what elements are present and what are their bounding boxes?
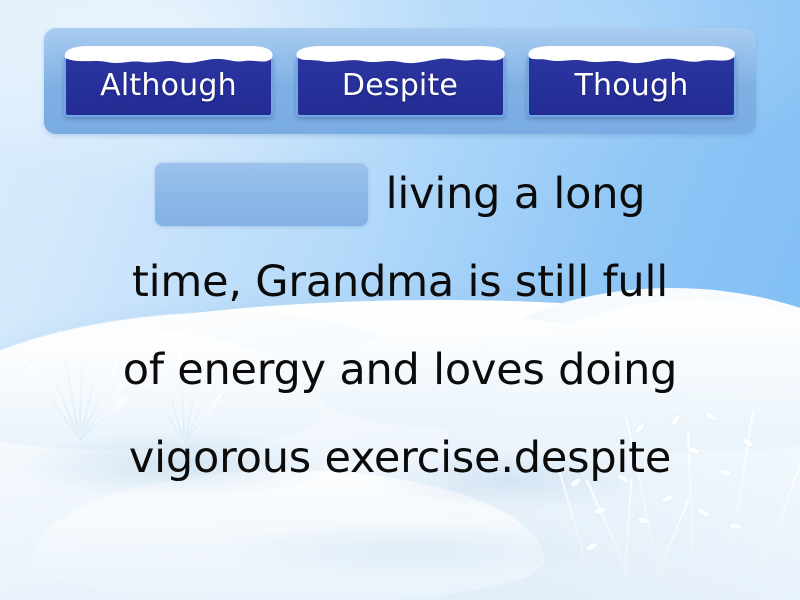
word-tile-though[interactable]: Though <box>527 55 736 117</box>
sentence-line: vigorous exercise.despite <box>40 414 760 502</box>
sentence-line-text: vigorous exercise.despite <box>129 433 671 483</box>
word-tile-despite[interactable]: Despite <box>296 55 505 117</box>
sentence-line: of energy and loves doing <box>40 326 760 414</box>
sentence-line: time, Grandma is still full <box>40 238 760 326</box>
sentence-line-text: living a long <box>386 150 646 238</box>
word-bank: Although Despite Though <box>44 28 756 134</box>
sentence-line-text: of energy and loves doing <box>123 345 678 395</box>
snow-shadow <box>208 520 608 580</box>
snow-cap-icon <box>291 44 510 66</box>
blank-drop-zone[interactable] <box>155 162 368 226</box>
snow-cap-icon <box>59 44 278 66</box>
sentence-container: living a long time, Grandma is still ful… <box>0 150 800 502</box>
word-tile-label: Though <box>575 71 689 101</box>
word-tile-although[interactable]: Although <box>64 55 273 117</box>
sentence-line: living a long <box>40 150 760 238</box>
sentence-line-text: time, Grandma is still full <box>132 257 668 307</box>
word-tile-label: Despite <box>342 71 458 101</box>
word-tile-label: Although <box>100 71 237 101</box>
snow-cap-icon <box>522 44 741 66</box>
